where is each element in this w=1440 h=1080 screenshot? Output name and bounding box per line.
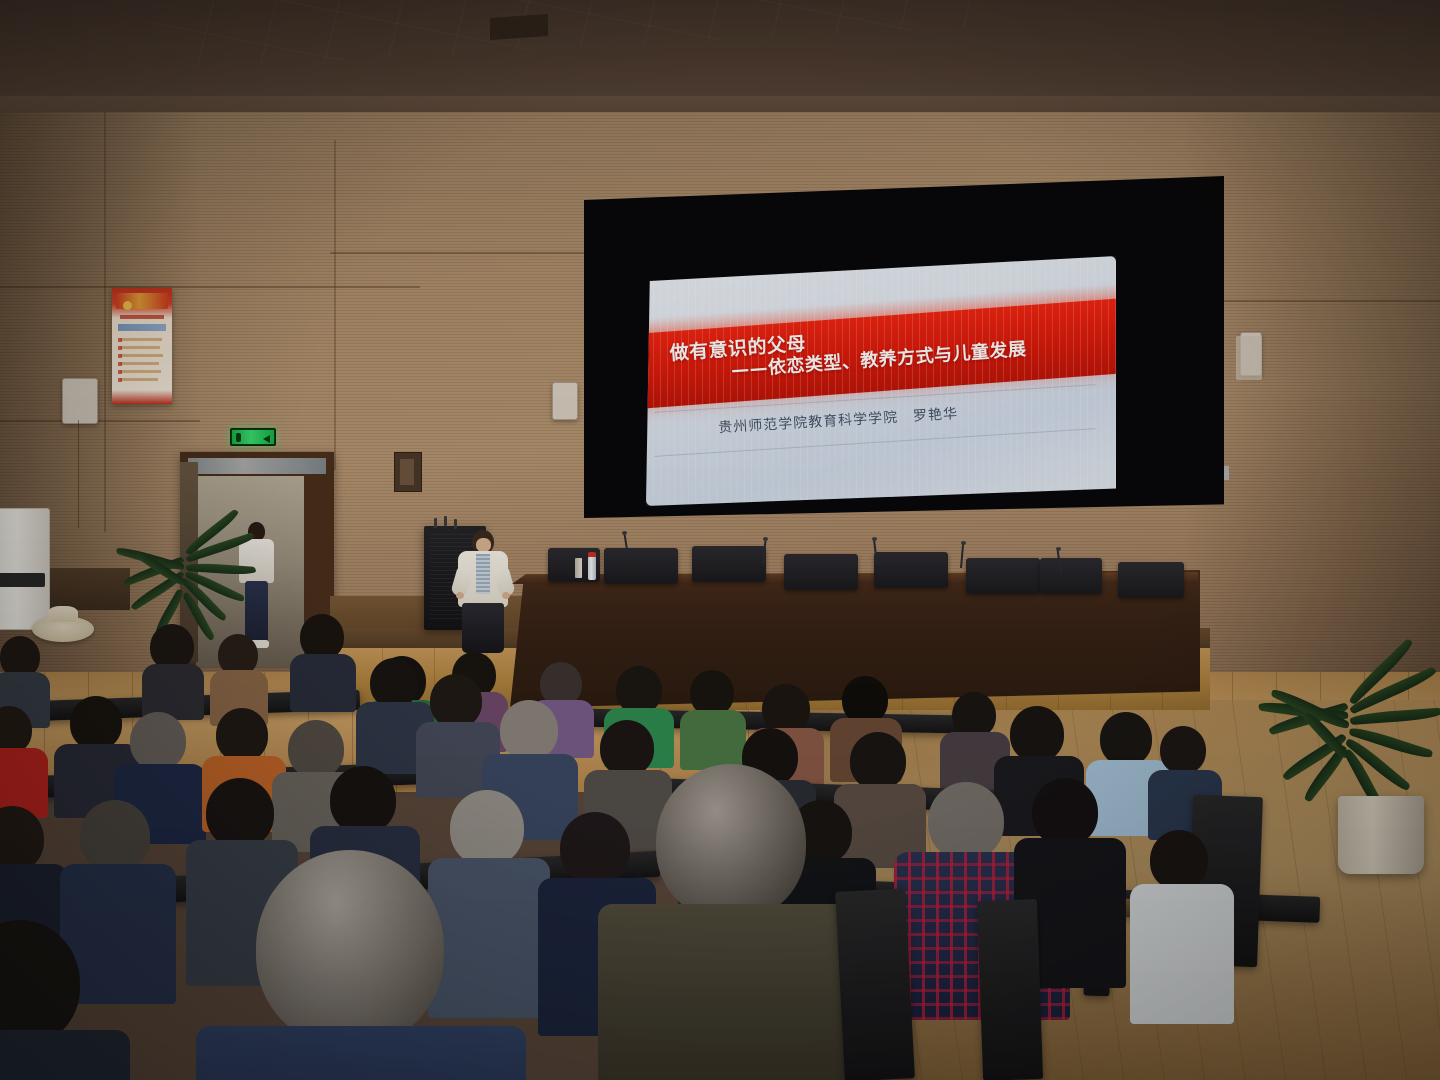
microphone-head [961, 541, 966, 545]
poster-text-line [120, 378, 158, 381]
poster-title-bar [120, 315, 164, 319]
microphone-head [622, 531, 627, 535]
face [476, 538, 491, 552]
ceiling-tile-grid [150, 0, 970, 70]
wall-speaker-icon [552, 382, 578, 420]
water-bottle [588, 556, 596, 580]
poster-subtitle-bar [118, 324, 166, 331]
head-table-chair[interactable] [966, 558, 1040, 594]
bottle-cap [588, 552, 596, 557]
poster-header-banner [116, 293, 168, 309]
lecture-hall-photo: 做有意识的父母 ——依恋类型、教养方式与儿童发展 贵州师范学院教育科学学院 罗艳… [0, 0, 1440, 1080]
poster-bullet [118, 346, 122, 350]
door-transom-window [188, 458, 326, 474]
poster-text-line [120, 338, 162, 341]
drinking-cup [575, 558, 582, 578]
hat-crown [48, 606, 78, 622]
poster-text-line [120, 362, 159, 365]
wall-poster [112, 288, 172, 404]
poster-bullet [118, 378, 122, 382]
ceiling [0, 0, 1440, 120]
presentation-slide: 做有意识的父母 ——依恋类型、教养方式与儿童发展 贵州师范学院教育科学学院 罗艳… [646, 256, 1116, 506]
microphone-head [872, 537, 877, 541]
bench-end-panel[interactable] [977, 899, 1043, 1080]
exit-sign [230, 428, 276, 446]
bench-end-panel[interactable] [835, 888, 915, 1080]
head-table-chair[interactable] [1118, 562, 1184, 598]
microphone-head [1056, 547, 1061, 551]
wall-cable [78, 420, 79, 528]
wall-speaker-icon [62, 378, 98, 424]
left-hand [456, 592, 464, 599]
striped-top [476, 554, 490, 594]
poster-bullet [118, 354, 122, 358]
head-table-chair[interactable] [784, 554, 858, 590]
poster-text-line [120, 370, 161, 373]
poster-emblem-icon [123, 301, 132, 310]
right-hand [502, 592, 510, 599]
ac-vent [0, 573, 45, 587]
framed-wall-notice [394, 452, 422, 492]
head-table-chair[interactable] [692, 546, 766, 582]
poster-text-line [120, 354, 163, 357]
wall-seam [334, 140, 336, 470]
ceiling-vent [490, 14, 548, 40]
poster-text-line [120, 346, 160, 349]
head-table-chair[interactable] [874, 552, 948, 588]
poster-bullet [118, 370, 122, 374]
head-table-chair[interactable] [1040, 558, 1102, 594]
exit-sign-face [232, 430, 274, 444]
wall-panel [1236, 336, 1262, 380]
wall-seam [330, 252, 590, 254]
microphone-head [763, 537, 768, 541]
audience-area [0, 600, 1440, 1080]
running-man-icon [236, 433, 241, 442]
poster-bullet [118, 362, 122, 366]
arrow-right-icon [263, 435, 270, 443]
head-table-chair[interactable] [604, 548, 678, 584]
sun-hat [32, 616, 94, 642]
poster-bullet [118, 338, 122, 342]
